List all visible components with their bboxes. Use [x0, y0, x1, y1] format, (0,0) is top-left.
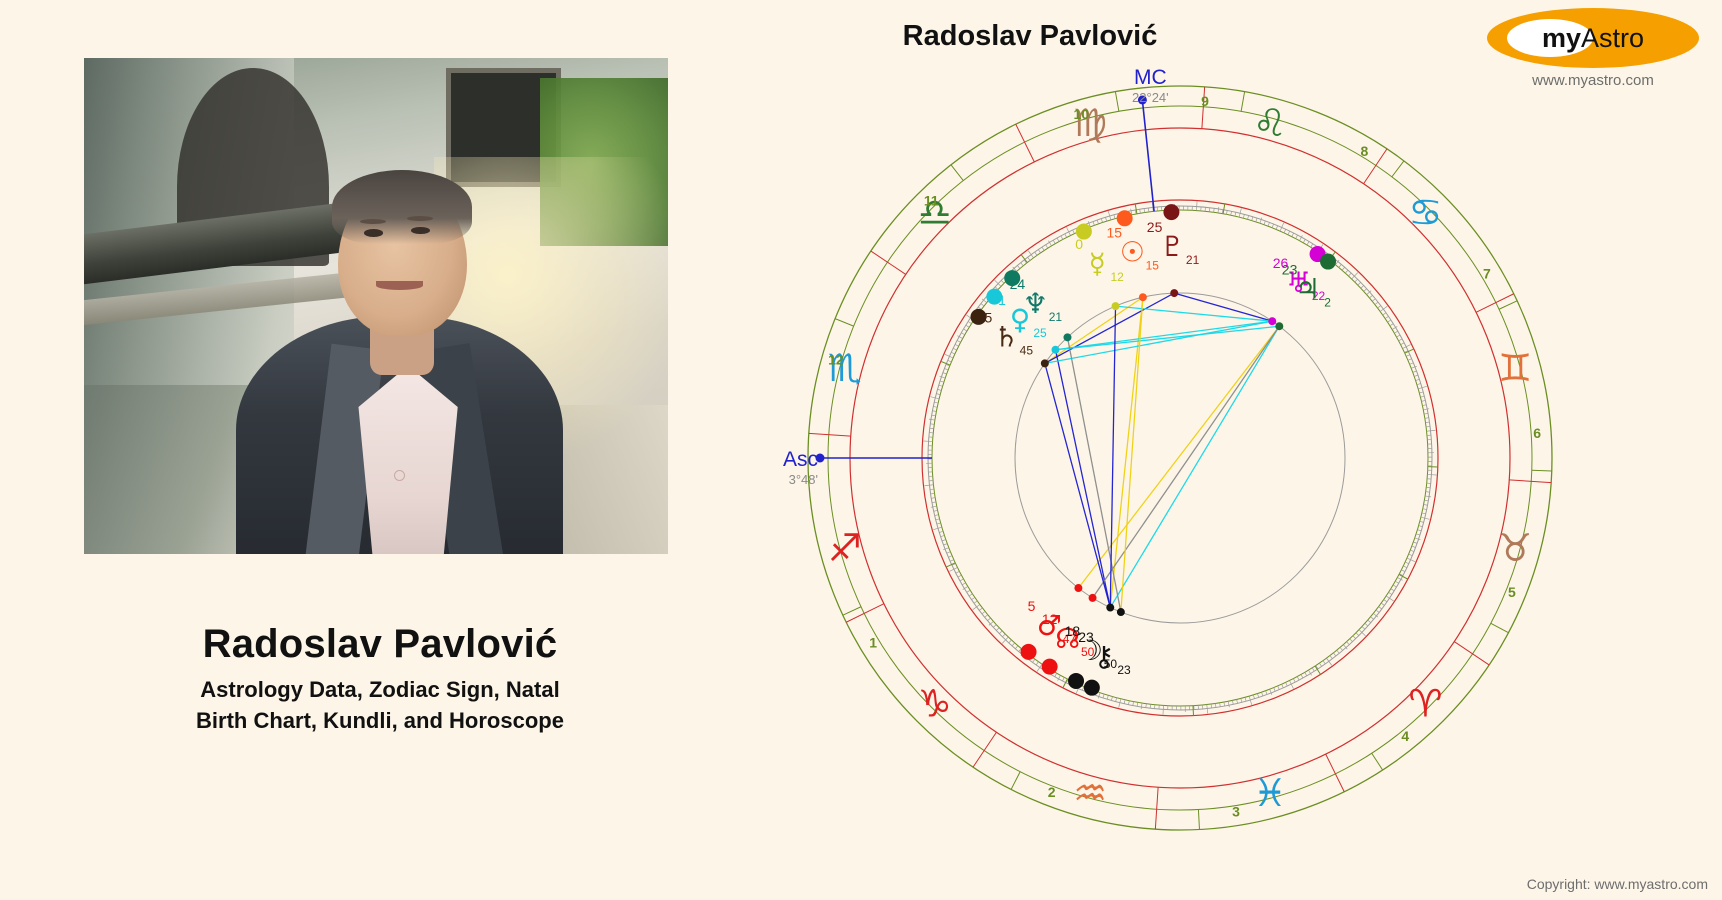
planet-minute-pluto: 21: [1186, 253, 1200, 267]
planet-inner-dot-node: [1089, 594, 1097, 602]
sign-glyph-aries: ♈: [1408, 681, 1442, 725]
planet-glyph-jupiter: ♃: [1295, 273, 1320, 306]
planet-inner-dot-uranus: [1268, 317, 1276, 325]
planet-minute-sun: 15: [1146, 258, 1160, 272]
sign-glyph-pisces: ♓: [1253, 771, 1287, 815]
sign-glyph-taurus: ♉: [1498, 526, 1532, 570]
planet-minute-mercury: 12: [1110, 270, 1124, 284]
planet-glyph-pluto: ♇: [1160, 230, 1185, 263]
planet-jupiter[interactable]: ♃232: [1275, 254, 1336, 331]
aspect-line: [1055, 321, 1272, 350]
aspect-line: [1121, 297, 1143, 612]
planet-inner-dot-neptune: [1063, 333, 1071, 341]
house-number-11: 11: [924, 192, 939, 208]
aspect-line: [1045, 363, 1110, 607]
logo-astro-text: Astro: [1581, 23, 1644, 54]
planet-minute-venus: 25: [1033, 326, 1047, 340]
house-number-3: 3: [1232, 804, 1240, 820]
angle-degree-mc: 22°24': [1120, 90, 1180, 105]
aspect-line: [1055, 350, 1110, 608]
planet-dot-jupiter: [1320, 254, 1336, 270]
house-number-12: 12: [828, 351, 844, 367]
planet-dot-moon: [1068, 673, 1084, 689]
planet-dot-pluto: [1163, 204, 1179, 220]
chart-title: Radoslav Pavlović: [760, 20, 1300, 53]
house-number-8: 8: [1360, 143, 1368, 159]
planet-inner-dot-jupiter: [1275, 322, 1283, 330]
left-panel: Radoslav Pavlović Astrology Data, Zodiac…: [0, 0, 760, 900]
planet-inner-dot-sun: [1139, 293, 1147, 301]
planet-inner-dot-chiron: [1117, 608, 1125, 616]
planet-degree-sun: 15: [1107, 224, 1123, 240]
aspect-line: [1045, 293, 1174, 363]
logo-my-text: my: [1542, 23, 1581, 54]
planet-inner-dot-pluto: [1170, 289, 1178, 297]
planet-inner-dot-venus: [1051, 346, 1059, 354]
angle-name-mc: MC: [1120, 66, 1180, 90]
sign-glyph-leo: ♌: [1253, 101, 1287, 145]
logo-ellipse-icon: myAstro: [1487, 8, 1699, 68]
subtitle-line-1: Astrology Data, Zodiac Sign, Natal: [0, 674, 760, 705]
house-number-10: 10: [1074, 106, 1090, 122]
sign-glyph-sagittarius: ♐: [828, 526, 862, 570]
planet-pluto[interactable]: ♇2521: [1147, 204, 1200, 297]
portrait-photo: [84, 58, 668, 554]
planet-dot-node: [1042, 659, 1058, 675]
house-number-9: 9: [1201, 93, 1209, 109]
planet-minute-neptune: 21: [1049, 310, 1063, 324]
planet-minute-jupiter: 2: [1324, 296, 1331, 310]
planet-degree-node: 12: [1042, 611, 1058, 627]
copyright-notice: Copyright: www.myastro.com: [1527, 876, 1708, 892]
planet-degree-venus: 1: [998, 292, 1006, 308]
planet-minute-chiron: 23: [1117, 663, 1131, 677]
subtitle-line-2: Birth Chart, Kundli, and Horoscope: [0, 705, 760, 736]
house-number-6: 6: [1533, 425, 1541, 441]
site-logo[interactable]: myAstro www.myastro.com: [1480, 8, 1706, 89]
planet-degree-saturn: 5: [984, 309, 992, 325]
angle-label-asc: Asc3°48': [758, 448, 818, 487]
planet-degree-jupiter: 23: [1282, 262, 1298, 278]
house-number-2: 2: [1048, 784, 1056, 800]
natal-chart-svg[interactable]: ♍♌♋♊♉♈♓♒♑♐♏♎123456789101112☿012☉1515♇252…: [800, 78, 1560, 838]
angle-degree-asc: 3°48': [758, 472, 818, 487]
house-number-4: 4: [1401, 728, 1409, 744]
planet-glyph-sun: ☉: [1120, 235, 1145, 268]
house-number-1: 1: [869, 634, 877, 650]
planet-degree-neptune: 24: [1010, 276, 1026, 292]
sign-glyph-gemini: ♊: [1498, 346, 1532, 390]
planet-minute-saturn: 45: [1020, 343, 1034, 357]
aspect-line: [1055, 326, 1279, 350]
house-number-7: 7: [1483, 266, 1491, 282]
planet-degree-mercury: 0: [1075, 236, 1083, 252]
house-number-5: 5: [1508, 584, 1516, 600]
person-name: Radoslav Pavlović: [0, 622, 760, 667]
logo-text: myAstro: [1487, 8, 1699, 68]
planet-glyph-chiron: ⚷: [1094, 640, 1115, 673]
planet-glyph-mercury: ☿: [1089, 247, 1106, 280]
planet-glyph-saturn: ♄: [994, 320, 1019, 353]
planet-dot-mars: [1021, 644, 1037, 660]
natal-chart-wheel[interactable]: ♍♌♋♊♉♈♓♒♑♐♏♎123456789101112☿012☉1515♇252…: [800, 78, 1560, 838]
sign-glyph-cancer: ♋: [1408, 191, 1442, 235]
angle-label-mc: MC22°24': [1120, 66, 1180, 105]
planet-inner-dot-moon: [1106, 604, 1114, 612]
planet-degree-mars: 5: [1028, 598, 1036, 614]
planet-degree-pluto: 25: [1147, 219, 1163, 235]
sign-glyph-aquarius: ♒: [1073, 771, 1107, 815]
page-subtitle: Astrology Data, Zodiac Sign, Natal Birth…: [0, 674, 760, 736]
planet-degree-chiron: 23: [1078, 629, 1094, 645]
aspect-line: [1093, 326, 1280, 598]
planet-inner-dot-mars: [1074, 584, 1082, 592]
planet-inner-dot-mercury: [1112, 302, 1120, 310]
sign-glyph-capricorn: ♑: [918, 681, 952, 725]
astrology-report-page: Radoslav Pavlović Astrology Data, Zodiac…: [0, 0, 1722, 900]
planet-dot-chiron: [1084, 680, 1100, 696]
angle-name-asc: Asc: [758, 448, 818, 472]
planet-inner-dot-saturn: [1041, 359, 1049, 367]
